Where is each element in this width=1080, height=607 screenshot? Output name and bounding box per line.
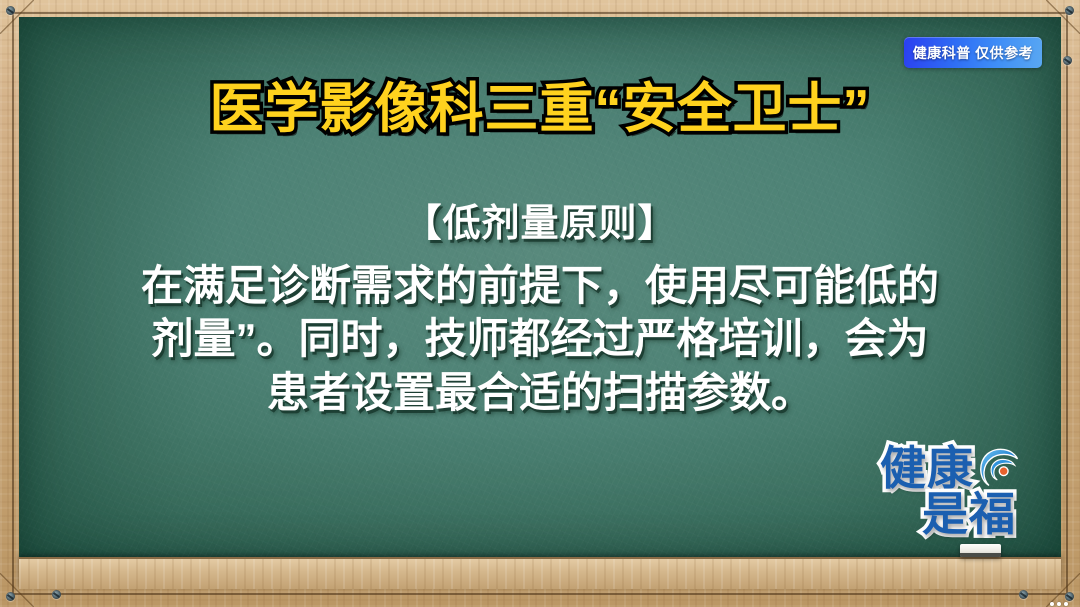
frame-screw-top-right <box>1065 6 1074 15</box>
body-line-2: 剂量”。同时，技师都经过严格培训，会为 <box>52 312 1028 366</box>
badge-ellipsis-dots <box>1050 602 1068 606</box>
frame-screw-bottom-left <box>6 592 15 601</box>
badge-dot-3 <box>1064 602 1068 606</box>
health-disclaimer-badge: 健康科普 仅供参考 <box>904 37 1042 68</box>
frame-screw-bottom-right-inner <box>1019 590 1028 599</box>
swirl-wave-icon <box>977 445 1023 491</box>
slide-body: 【低剂量原则】 在满足诊断需求的前提下，使用尽可能低的 剂量”。同时，技师都经过… <box>52 200 1028 420</box>
brand-logo-line-1: 健康 <box>880 445 974 491</box>
brand-logo: 健康 是福 <box>878 439 1056 551</box>
frame-screw-top-left <box>6 6 15 15</box>
frame-screw-bottom-right <box>1065 592 1074 601</box>
badge-dot-1 <box>1050 602 1054 606</box>
frame-screw-bottom-left-inner <box>52 590 61 599</box>
slide-screen: 健康科普 仅供参考 医学影像科三重“安全卫士” 【低剂量原则】 在满足诊断需求的… <box>0 0 1080 607</box>
slide-title: 医学影像科三重“安全卫士” <box>0 82 1080 136</box>
body-line-3: 患者设置最合适的扫描参数。 <box>52 366 1028 420</box>
brand-logo-line-2: 是福 <box>922 491 1016 537</box>
chalk-tray <box>19 557 1061 589</box>
badge-dot-2 <box>1057 602 1061 606</box>
health-disclaimer-badge-label: 健康科普 仅供参考 <box>913 43 1033 63</box>
body-lead-heading: 【低剂量原则】 <box>52 200 1028 249</box>
body-line-1: 在满足诊断需求的前提下，使用尽可能低的 <box>52 259 1028 313</box>
frame-screw-right-upper <box>1063 56 1072 65</box>
